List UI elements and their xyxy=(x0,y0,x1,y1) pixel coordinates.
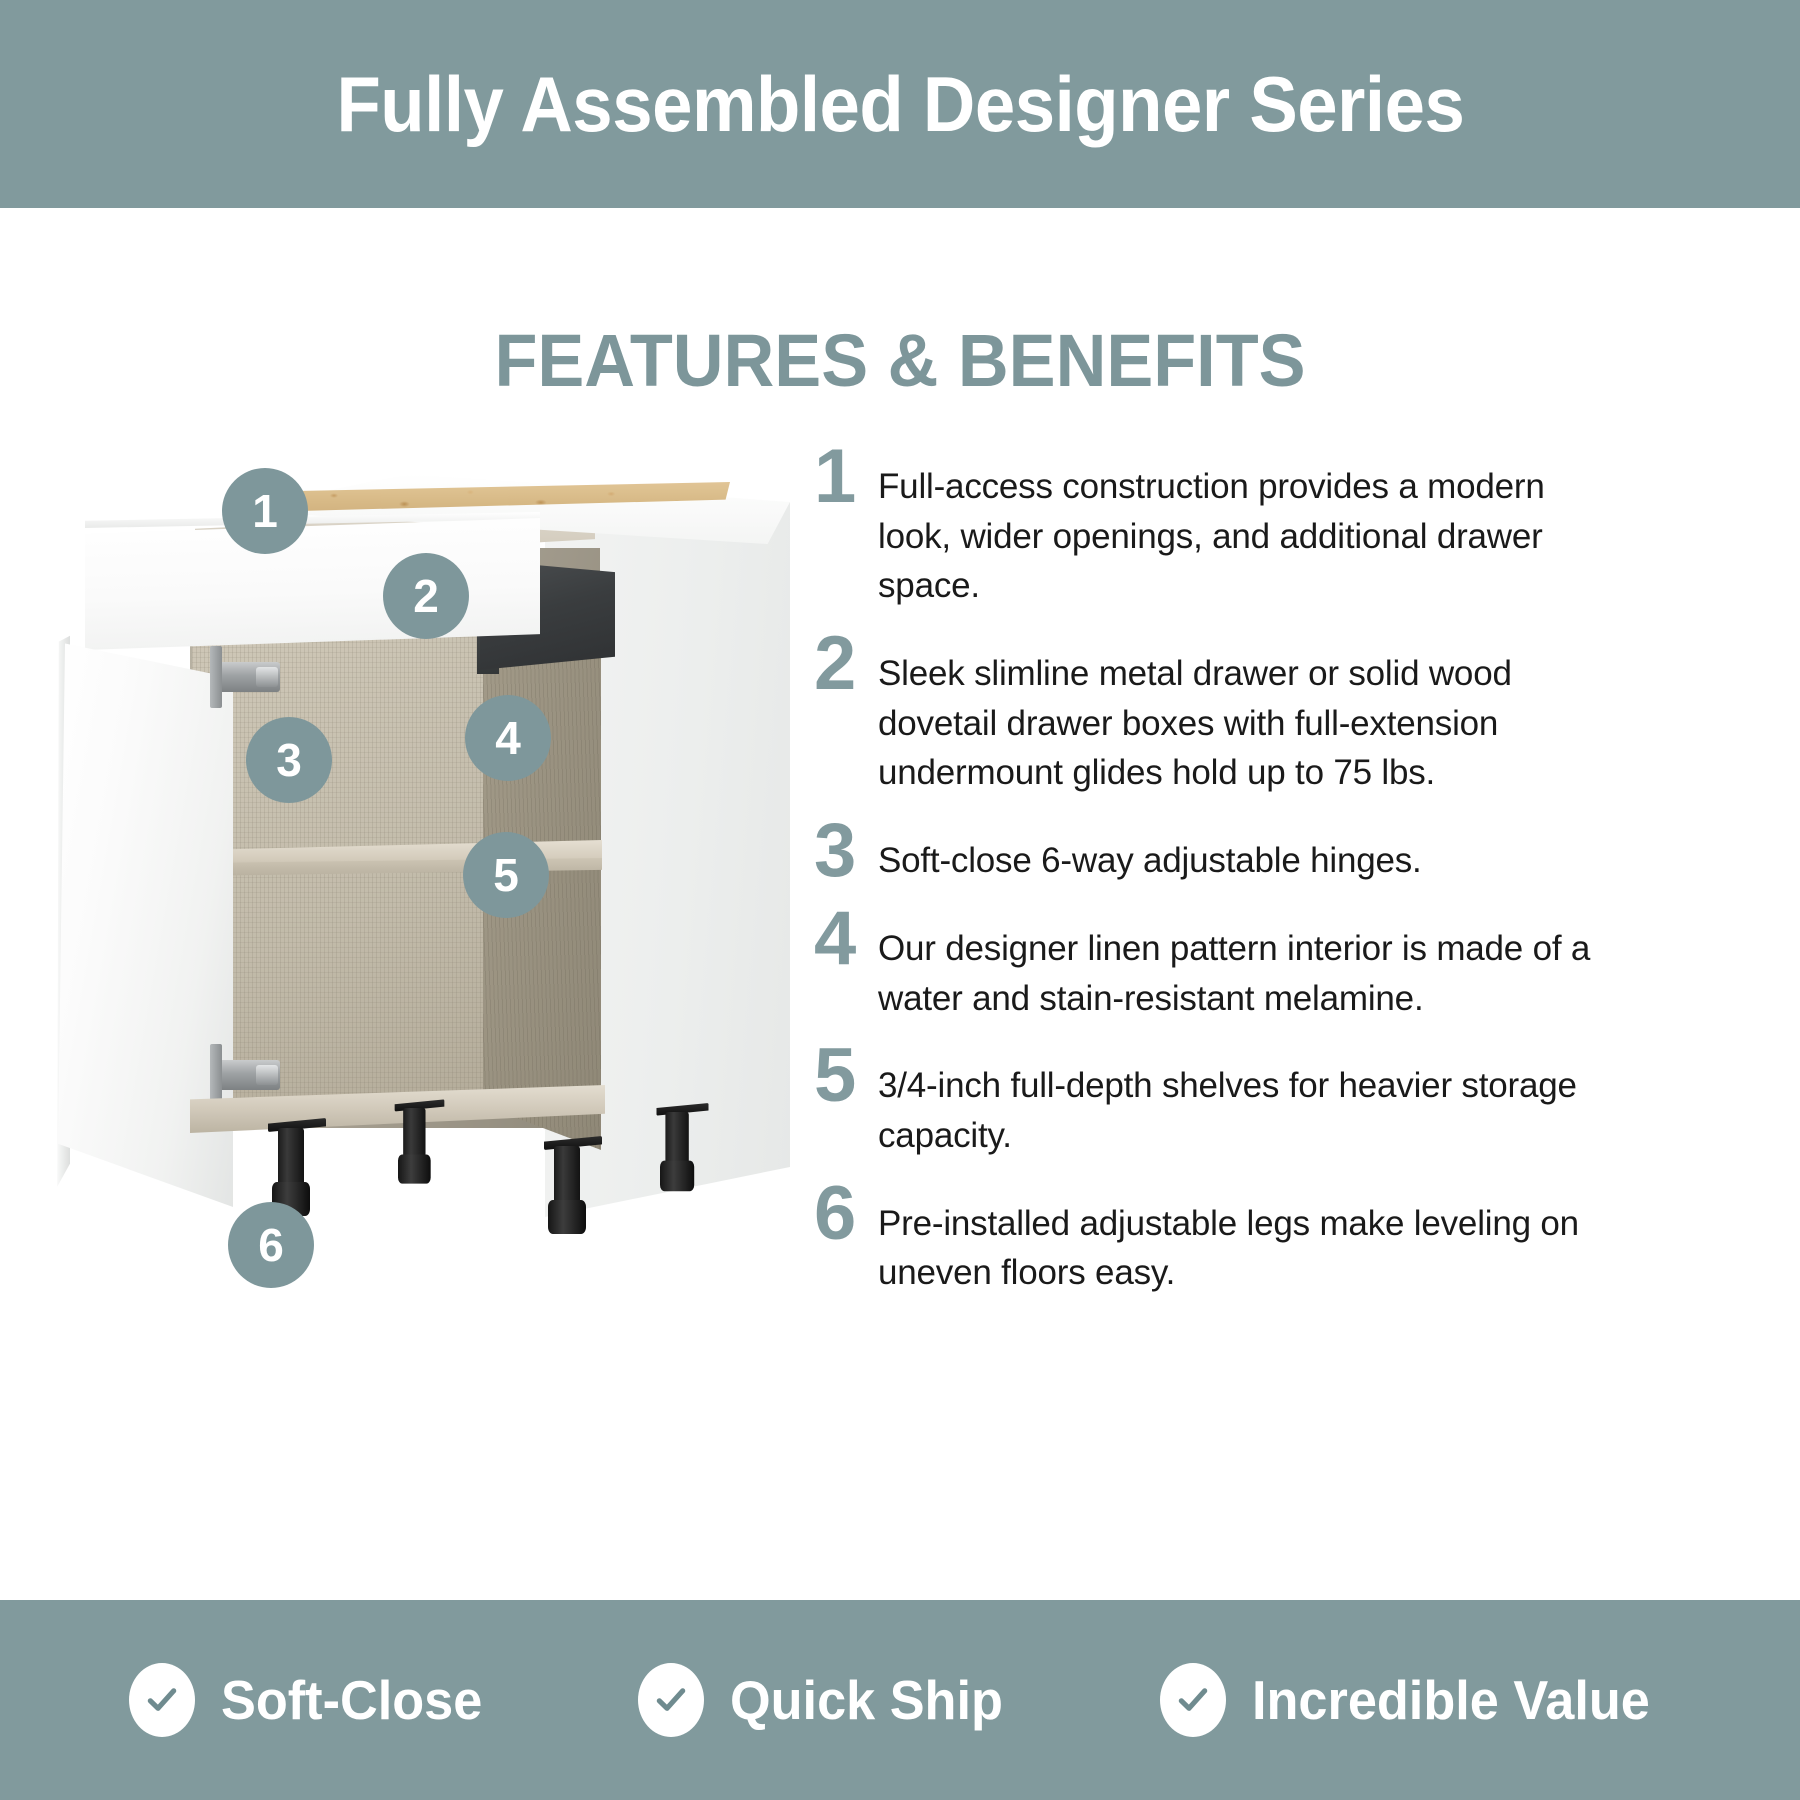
feature-text-3: Soft-close 6-way adjustable hinges. xyxy=(878,814,1618,886)
page-title: Fully Assembled Designer Series xyxy=(336,65,1464,143)
leg-shaft xyxy=(554,1146,580,1208)
feature-list: 1 Full-access construction provides a mo… xyxy=(800,440,1760,1314)
footer-label-soft-close: Soft-Close xyxy=(221,1673,482,1728)
leg-foot xyxy=(398,1154,431,1183)
feature-item-5: 5 3/4-inch full-depth shelves for heavie… xyxy=(800,1039,1760,1160)
soft-close-hinge xyxy=(218,662,280,692)
cabinet-illustration: 1 2 3 4 5 6 xyxy=(40,440,800,1340)
feature-number-3: 3 xyxy=(800,814,878,886)
feature-item-1: 1 Full-access construction provides a mo… xyxy=(800,440,1760,611)
soft-close-hinge xyxy=(218,1060,280,1090)
drawer-front-panel xyxy=(85,518,540,650)
footer-banner: Soft-Close Quick Ship Incredible Value xyxy=(0,1600,1800,1800)
callout-badge-2: 2 xyxy=(383,553,469,639)
feature-item-6: 6 Pre-installed adjustable legs make lev… xyxy=(800,1177,1760,1298)
footer-item-quick-ship: Quick Ship xyxy=(638,1663,1017,1737)
footer-label-quick-ship: Quick Ship xyxy=(730,1673,1003,1728)
check-circle-icon xyxy=(1160,1663,1226,1737)
feature-text-2: Sleek slimline metal drawer or solid woo… xyxy=(878,627,1618,798)
footer-label-incredible-value: Incredible Value xyxy=(1252,1673,1650,1728)
header-banner: Fully Assembled Designer Series xyxy=(0,0,1800,208)
content-area: 1 2 3 4 5 6 1 Full-access construction p… xyxy=(0,420,1800,1590)
feature-text-5: 3/4-inch full-depth shelves for heavier … xyxy=(878,1039,1618,1160)
feature-number-2: 2 xyxy=(800,627,878,699)
leg-shaft xyxy=(403,1108,425,1161)
hinge-cup xyxy=(256,667,278,687)
leg-shaft xyxy=(278,1128,304,1190)
footer-item-soft-close: Soft-Close xyxy=(129,1663,496,1737)
leg-foot xyxy=(548,1200,586,1234)
callout-badge-4: 4 xyxy=(465,695,551,781)
hinge-cup xyxy=(256,1065,278,1085)
callout-badge-6: 6 xyxy=(228,1202,314,1288)
callout-badge-1: 1 xyxy=(222,468,308,554)
hinge-mounting-plate xyxy=(210,646,222,708)
feature-number-4: 4 xyxy=(800,902,878,974)
check-circle-icon xyxy=(129,1663,195,1737)
hinge-mounting-plate xyxy=(210,1044,222,1106)
section-heading: FEATURES & BENEFITS xyxy=(45,322,1755,400)
feature-text-4: Our designer linen pattern interior is m… xyxy=(878,902,1618,1023)
callout-badge-3: 3 xyxy=(246,717,332,803)
feature-number-6: 6 xyxy=(800,1177,878,1249)
leg-shaft xyxy=(665,1112,688,1168)
check-circle-icon xyxy=(638,1663,704,1737)
footer-item-incredible-value: Incredible Value xyxy=(1160,1663,1671,1737)
feature-item-2: 2 Sleek slimline metal drawer or solid w… xyxy=(800,627,1760,798)
feature-item-4: 4 Our designer linen pattern interior is… xyxy=(800,902,1760,1023)
feature-item-3: 3 Soft-close 6-way adjustable hinges. xyxy=(800,814,1760,886)
leg-foot xyxy=(660,1161,694,1192)
feature-number-1: 1 xyxy=(800,440,878,512)
callout-badge-5: 5 xyxy=(463,832,549,918)
feature-text-1: Full-access construction provides a mode… xyxy=(878,440,1618,611)
feature-text-6: Pre-installed adjustable legs make level… xyxy=(878,1177,1618,1298)
feature-number-5: 5 xyxy=(800,1039,878,1111)
